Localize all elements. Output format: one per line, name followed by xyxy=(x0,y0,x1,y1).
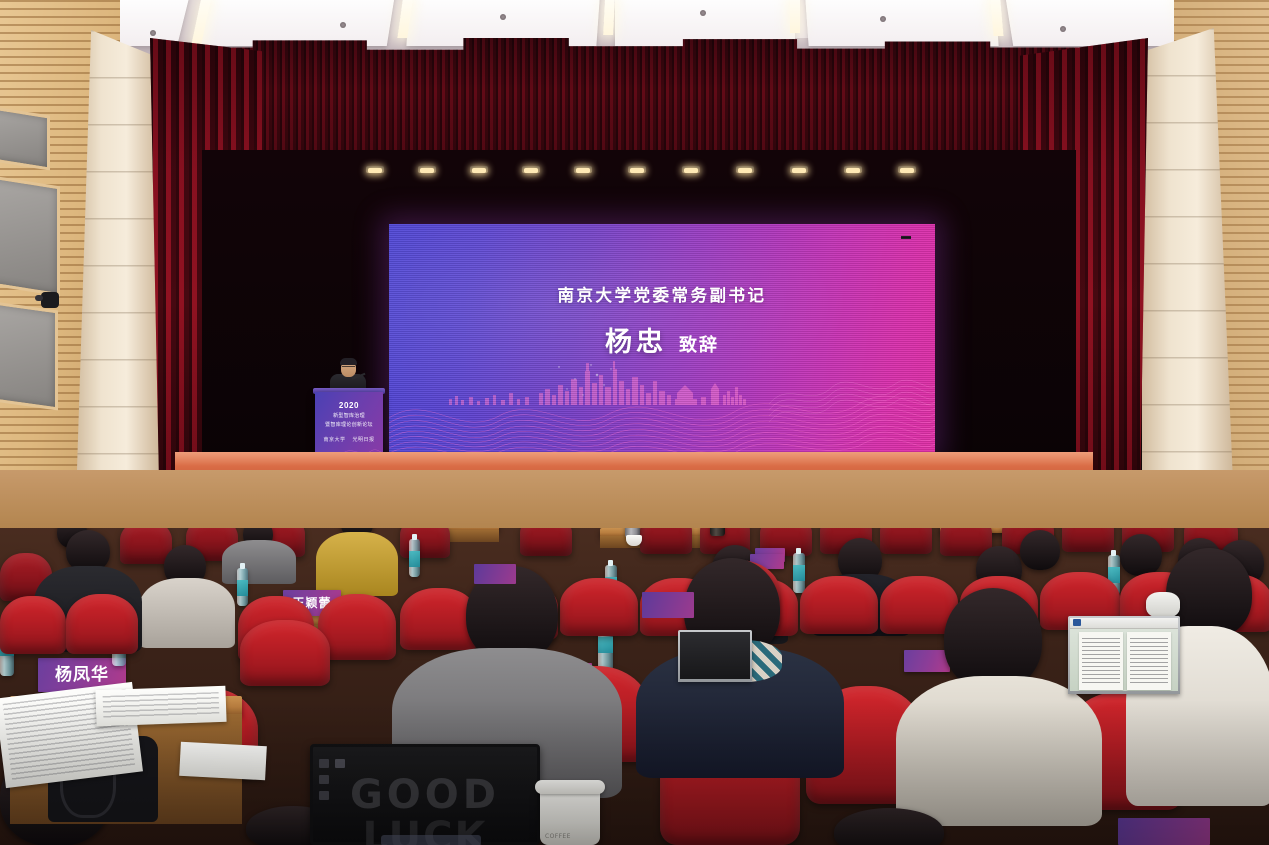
sparkle-particles xyxy=(549,359,619,401)
bottle-label xyxy=(237,580,248,596)
podium-line-1: 新型智库治理 xyxy=(315,412,383,419)
stage-light xyxy=(898,166,916,173)
audience-shoulders xyxy=(222,540,296,584)
taskbar[interactable] xyxy=(381,835,481,845)
ceiling-downlight xyxy=(150,30,156,36)
led-presentation-screen: 南京大学党委常务副书记 杨忠 致辞 xyxy=(389,224,935,453)
glasses-icon xyxy=(342,366,355,369)
wallpaper-line-1: GOOD xyxy=(313,772,537,818)
ceiling-light-strip xyxy=(790,0,800,33)
tablet-screen[interactable] xyxy=(1118,818,1210,845)
curtain-valance xyxy=(200,38,1078,156)
audience-shoulders xyxy=(316,532,398,596)
water-bottle xyxy=(409,539,420,577)
audience-head xyxy=(944,588,1042,690)
ceiling-downlight xyxy=(340,22,346,28)
document-lines xyxy=(103,692,220,720)
acoustic-panel xyxy=(0,300,58,411)
wall-speaker-icon xyxy=(41,292,59,308)
ceiling-downlight xyxy=(700,10,706,16)
audience-head xyxy=(1020,530,1060,570)
desktop-icon[interactable] xyxy=(319,775,329,784)
screen-main-line: 杨忠 致辞 xyxy=(389,320,935,359)
screen-title-block: 南京大学党委常务副书记 杨忠 致辞 xyxy=(389,282,935,359)
stage-light xyxy=(790,166,808,173)
podium-line-2: 暨智库理论创新论坛 xyxy=(315,421,383,428)
name-card xyxy=(904,650,950,672)
laptop[interactable] xyxy=(678,630,752,682)
stage-light xyxy=(470,166,488,173)
laptop-screen xyxy=(1070,618,1178,691)
hall-back-wall xyxy=(0,470,1269,528)
ceiling-downlight xyxy=(500,14,506,20)
auditorium-seat xyxy=(0,596,66,654)
screen-speaker-name: 杨忠 xyxy=(605,320,667,359)
coffee-cup-label: COFFEE xyxy=(545,833,595,840)
stage-light xyxy=(574,166,592,173)
stage-light xyxy=(844,166,862,173)
acoustic-panel xyxy=(0,104,50,170)
name-card-text: 杨凤华 xyxy=(55,667,109,684)
desktop-icon[interactable] xyxy=(319,759,329,768)
document-sheet xyxy=(95,686,226,727)
podium-logos: 南京大学 光明日报 xyxy=(315,436,383,443)
ceiling-panel xyxy=(197,0,395,46)
ceiling-panel xyxy=(805,0,999,46)
screen-dead-pixel xyxy=(901,236,911,239)
bottle-label xyxy=(598,637,613,653)
auditorium-seat xyxy=(560,578,638,636)
auditorium-seat xyxy=(240,620,330,686)
water-bottle xyxy=(793,553,805,593)
ceiling-light-strip xyxy=(603,0,615,35)
document-sheet xyxy=(179,742,267,780)
podium-logo-left: 南京大学 xyxy=(323,437,345,443)
auditorium-seat xyxy=(800,576,878,634)
face-mask xyxy=(1146,592,1180,618)
podium-signage: 2020 新型智库治理 暨智库理论创新论坛 南京大学 光明日报 xyxy=(315,401,383,443)
ceiling-panel xyxy=(615,0,795,46)
laptop[interactable] xyxy=(1068,616,1180,694)
laptop-wallpaper-text: GOOD LUCK xyxy=(313,772,537,845)
stage-floor-highlight xyxy=(175,452,1093,466)
speaker-hair xyxy=(340,358,357,365)
auditorium-photo: 南京大学党委常务副书记 杨忠 致辞 2020 新型智库治理 暨智库理论创新论坛 … xyxy=(0,0,1269,845)
podium-logo-right: 光明日报 xyxy=(353,437,375,443)
city-skyline-graphic xyxy=(389,359,935,405)
ceiling-downlight xyxy=(1060,26,1066,32)
screen-action-label: 致辞 xyxy=(679,331,719,357)
audience-head xyxy=(1120,534,1162,576)
audience-shoulders xyxy=(139,578,235,648)
coffee-cup-lid xyxy=(535,780,605,794)
acoustic-panel xyxy=(0,174,60,297)
podium-year: 2020 xyxy=(315,401,383,410)
tablet-screen[interactable] xyxy=(642,592,694,618)
audience-shoulders xyxy=(896,676,1102,826)
auditorium-seat xyxy=(66,594,138,654)
stage-light xyxy=(366,166,384,173)
water-bottle xyxy=(237,568,248,606)
stage-light xyxy=(522,166,540,173)
desktop-icon[interactable] xyxy=(319,791,329,800)
laptop-screen xyxy=(680,632,750,679)
desktop-icon[interactable] xyxy=(335,759,345,768)
bottle-label xyxy=(409,551,420,567)
coffee-cup: COFFEE xyxy=(540,789,600,845)
screen-subtitle: 南京大学党委常务副书记 xyxy=(389,282,935,306)
stage-light xyxy=(628,166,646,173)
bottle-label xyxy=(793,565,805,581)
stage-light xyxy=(418,166,436,173)
stage-light xyxy=(736,166,754,173)
tablet-screen[interactable] xyxy=(474,564,516,584)
laptop-with-wallpaper[interactable]: GOOD LUCK xyxy=(310,744,540,845)
ceiling-downlight xyxy=(880,16,886,22)
stage-light xyxy=(682,166,700,173)
